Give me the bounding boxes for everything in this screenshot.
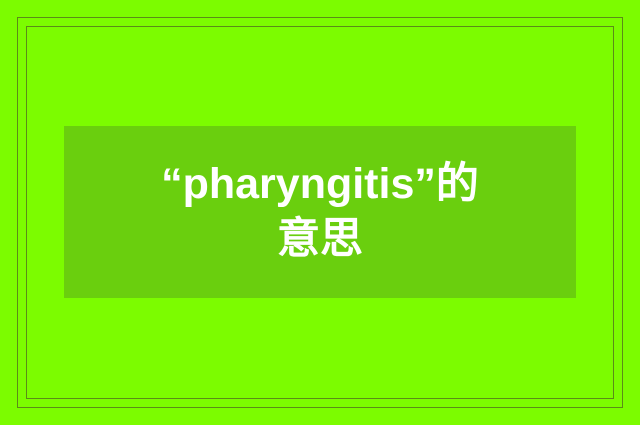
poster-canvas: “pharyngitis”的意思 (0, 0, 640, 425)
page-title: “pharyngitis”的意思 (160, 157, 480, 267)
title-plate: “pharyngitis”的意思 (64, 126, 576, 298)
